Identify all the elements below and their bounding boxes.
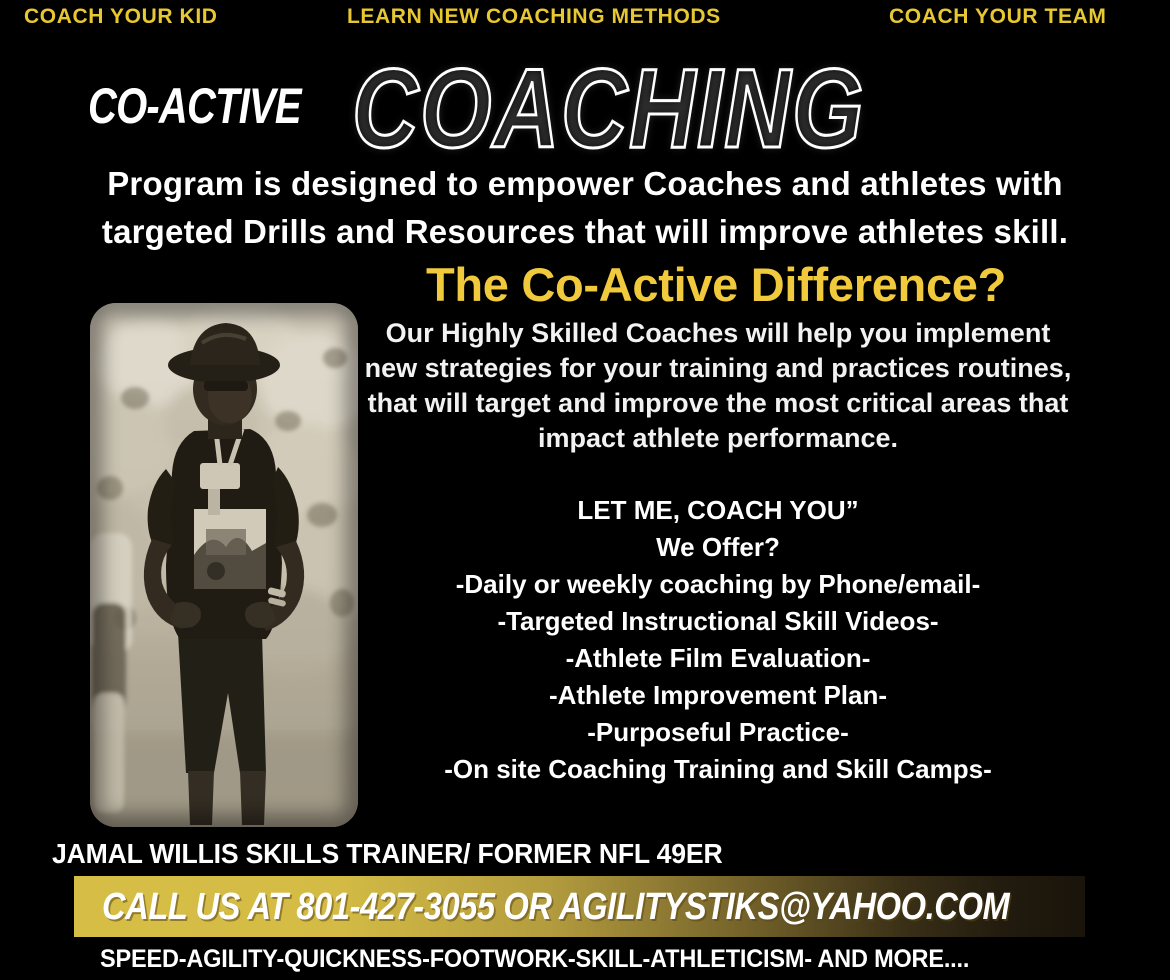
top-banner-strip: COACH YOUR KID LEARN NEW COACHING METHOD… [0,0,1170,36]
flyer-root: COACH YOUR KID LEARN NEW COACHING METHOD… [0,0,1170,980]
offers-block: LET ME, COACH YOU” We Offer? -Daily or w… [360,492,1076,788]
top-banner-item-coach-your-kid: COACH YOUR KID [24,4,218,30]
masthead: CO-ACTIVE COACHING [0,56,1170,156]
masthead-prefix-co-active: CO-ACTIVE [88,80,301,132]
masthead-title-coaching: COACHING [352,44,865,174]
coach-portrait-photo [90,303,358,827]
offers-item: -Purposeful Practice- [360,714,1076,751]
offers-item: -On site Coaching Training and Skill Cam… [360,751,1076,788]
offers-item: -Athlete Improvement Plan- [360,677,1076,714]
contact-bar[interactable]: CALL US AT 801-427-3055 OR AGILITYSTIKS@… [74,876,1085,937]
footer-tagline: SPEED-AGILITY-QUICKNESS-FOOTWORK-SKILL-A… [100,944,969,974]
offers-question: We Offer? [360,529,1076,566]
intro-paragraph: Program is designed to empower Coaches a… [60,160,1110,256]
offers-item: -Daily or weekly coaching by Phone/email… [360,566,1076,603]
offers-item: -Athlete Film Evaluation- [360,640,1076,677]
trainer-name-line: JAMAL WILLIS SKILLS TRAINER/ FORMER NFL … [52,838,722,870]
top-banner-item-learn-new-coaching-methods: LEARN NEW COACHING METHODS [347,4,721,30]
difference-paragraph: Our Highly Skilled Coaches will help you… [360,316,1076,456]
contact-bar-text[interactable]: CALL US AT 801-427-3055 OR AGILITYSTIKS@… [102,885,1009,929]
coach-portrait-illustration [90,303,358,827]
top-banner-item-coach-your-team: COACH YOUR TEAM [889,4,1106,30]
offers-item: -Targeted Instructional Skill Videos- [360,603,1076,640]
difference-headline: The Co-Active Difference? [336,258,1096,312]
offers-tagline: LET ME, COACH YOU” [360,492,1076,529]
